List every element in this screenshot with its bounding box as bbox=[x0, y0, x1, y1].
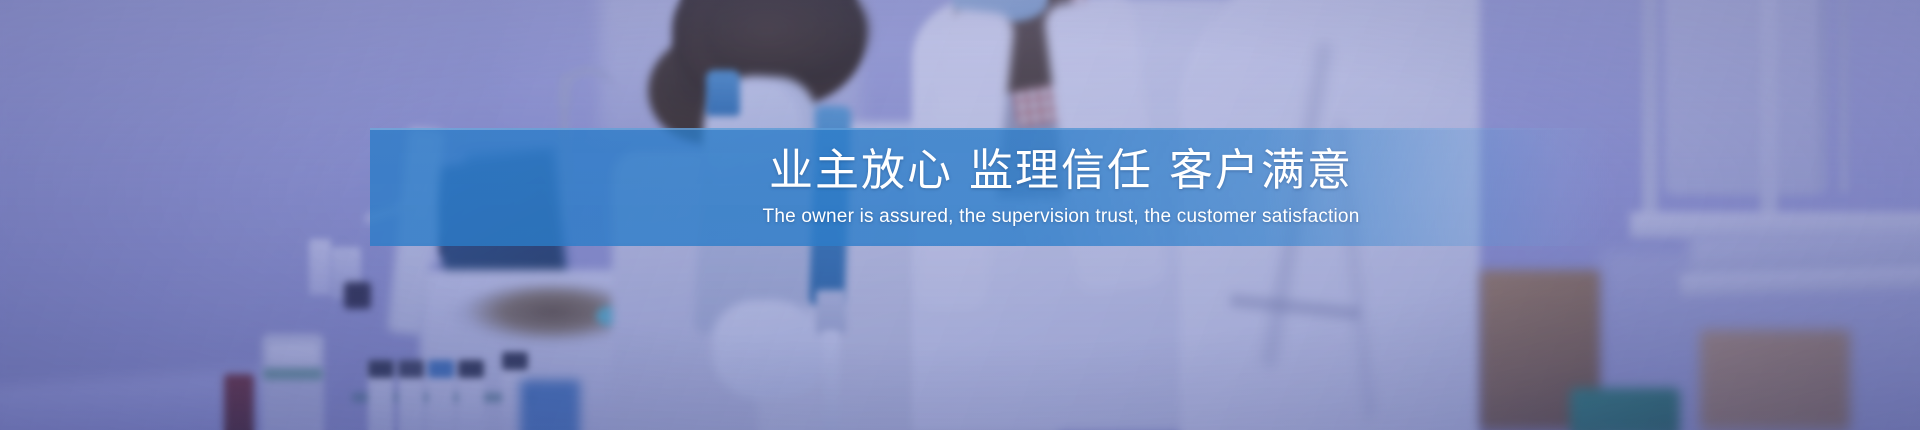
hero-banner: 业主放心 监理信任 客户满意 The owner is assured, the… bbox=[0, 0, 1920, 430]
banner-headline: 业主放心 监理信任 客户满意 bbox=[769, 146, 1353, 195]
caption-text-block: 业主放心 监理信任 客户满意 The owner is assured, the… bbox=[370, 128, 1610, 246]
banner-subline: The owner is assured, the supervision tr… bbox=[763, 206, 1360, 228]
